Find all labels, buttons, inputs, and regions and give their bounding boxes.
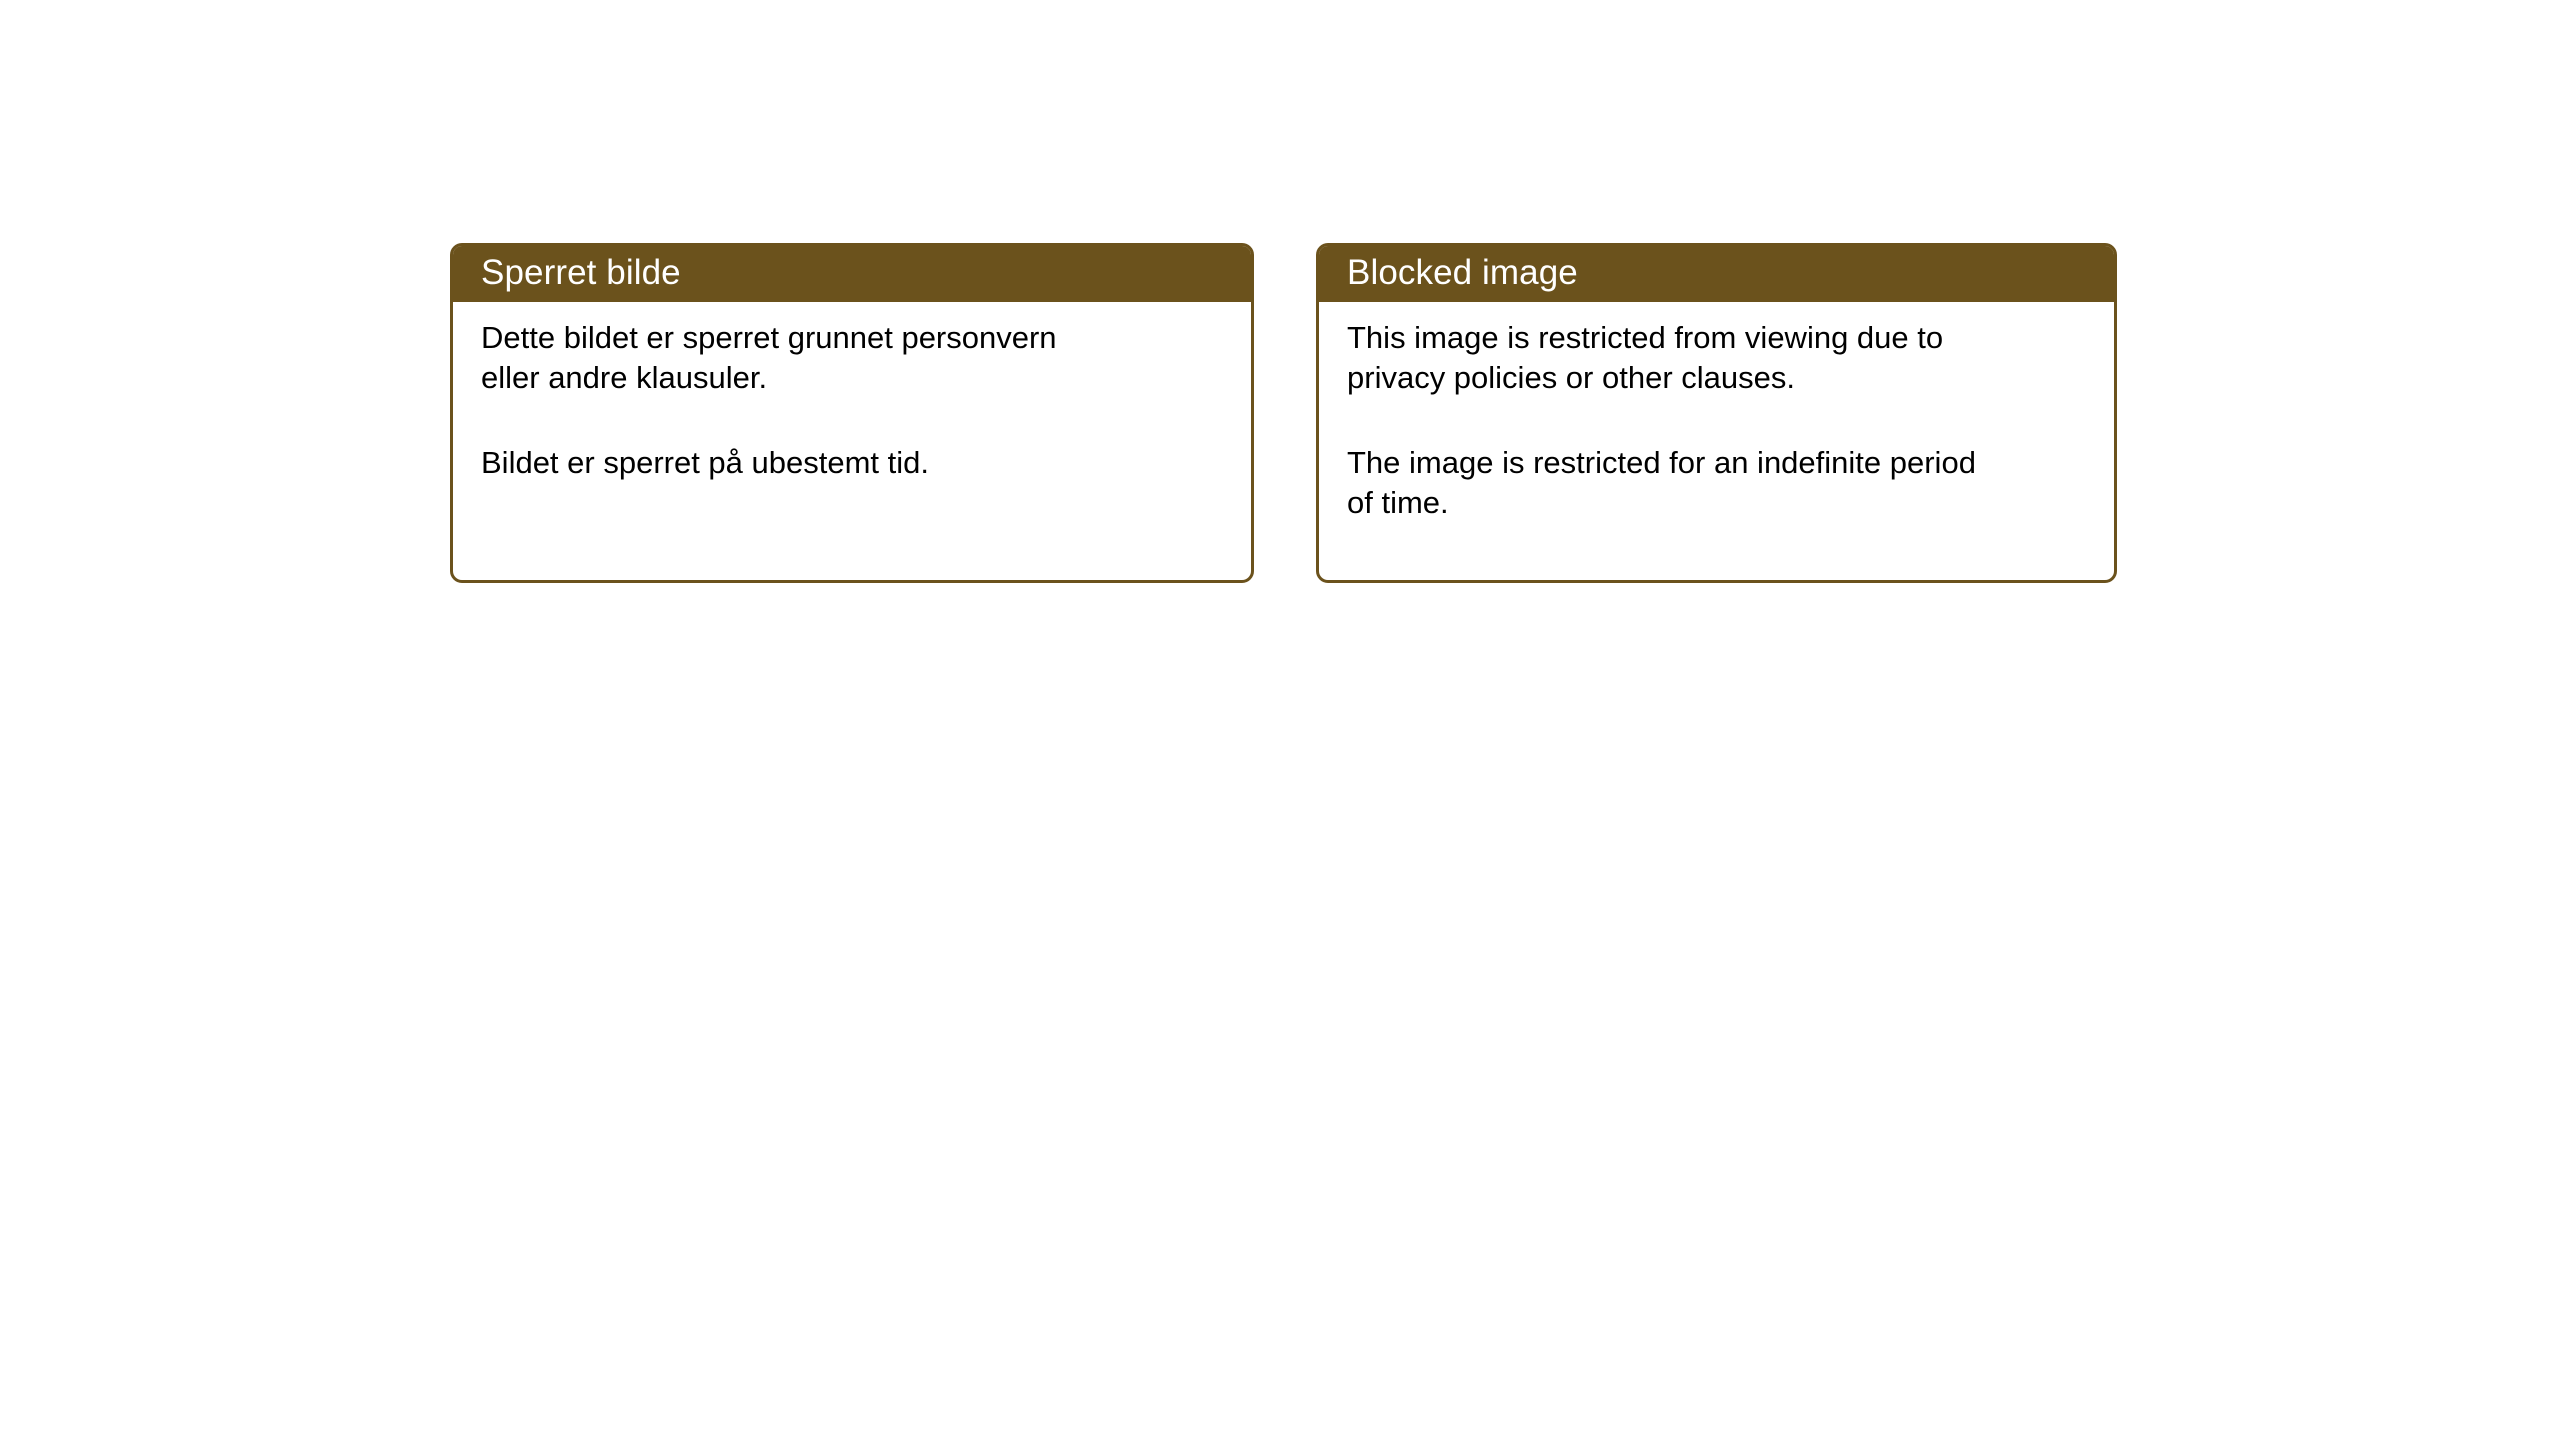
blocked-image-notice-screen: Sperret bilde Dette bildet er sperret gr… bbox=[0, 0, 2560, 1440]
blocked-image-panel-english: Blocked image This image is restricted f… bbox=[1316, 243, 2117, 583]
panel-body-norwegian: Dette bildet er sperret grunnet personve… bbox=[453, 302, 1251, 483]
panel-body-english: This image is restricted from viewing du… bbox=[1319, 302, 2114, 523]
panel-header-english: Blocked image bbox=[1316, 243, 2117, 302]
panel-paragraph-secondary-norwegian: Bildet er sperret på ubestemt tid. bbox=[481, 443, 1227, 483]
panel-title-norwegian: Sperret bilde bbox=[481, 255, 681, 290]
panel-paragraph-primary-english: This image is restricted from viewing du… bbox=[1347, 318, 2090, 399]
panel-header-norwegian: Sperret bilde bbox=[450, 243, 1254, 302]
panel-paragraph-primary-norwegian: Dette bildet er sperret grunnet personve… bbox=[481, 318, 1227, 399]
blocked-image-panel-norwegian: Sperret bilde Dette bildet er sperret gr… bbox=[450, 243, 1254, 583]
panel-paragraph-secondary-english: The image is restricted for an indefinit… bbox=[1347, 443, 2090, 524]
panel-title-english: Blocked image bbox=[1347, 255, 1578, 290]
